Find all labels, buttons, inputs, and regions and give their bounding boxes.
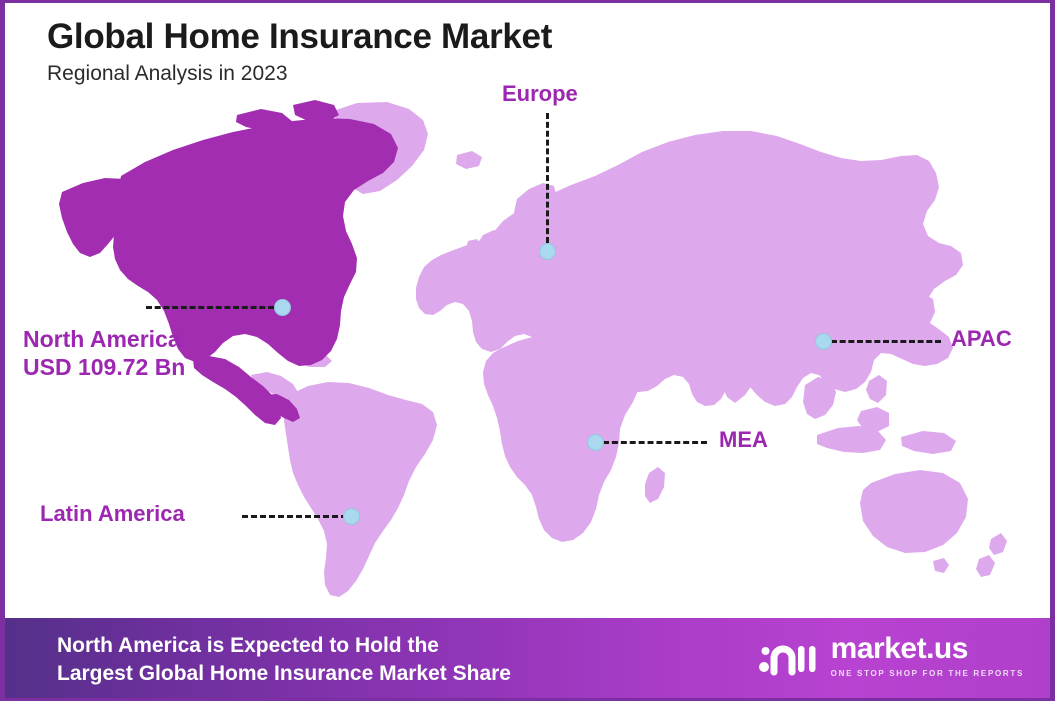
connector-mea bbox=[603, 441, 707, 444]
madagascar-shape bbox=[645, 467, 665, 503]
new-zealand-shape bbox=[989, 533, 1007, 555]
marker-dot-mea[interactable] bbox=[587, 434, 604, 451]
arctic-islands-1 bbox=[236, 109, 293, 131]
header: Global Home Insurance Market Regional An… bbox=[47, 17, 552, 86]
philippines-shape bbox=[866, 375, 887, 403]
connector-latin-america bbox=[242, 515, 347, 518]
logo-name: market.us bbox=[831, 634, 1024, 664]
region-label-latin-america[interactable]: Latin America bbox=[40, 501, 185, 527]
marker-dot-north-america[interactable] bbox=[274, 299, 291, 316]
iceland-shape bbox=[456, 151, 482, 169]
banner-headline: North America is Expected to Hold the La… bbox=[57, 632, 511, 687]
region-label-north-america[interactable]: North America USD 109.72 Bn bbox=[23, 326, 185, 381]
australia-shape bbox=[860, 470, 968, 553]
arctic-islands-2 bbox=[293, 100, 339, 122]
page-subtitle: Regional Analysis in 2023 bbox=[47, 62, 552, 86]
marker-dot-europe[interactable] bbox=[539, 243, 556, 260]
region-label-apac[interactable]: APAC bbox=[951, 326, 1012, 352]
new-zealand-south-shape bbox=[976, 555, 995, 577]
tasmania-shape bbox=[933, 558, 949, 573]
market-us-logo[interactable]: market.us ONE STOP SHOP FOR THE REPORTS bbox=[758, 634, 1024, 678]
bottom-banner: North America is Expected to Hold the La… bbox=[5, 618, 1055, 701]
marker-dot-latin-america[interactable] bbox=[343, 508, 360, 525]
connector-europe bbox=[546, 113, 549, 243]
region-label-mea[interactable]: MEA bbox=[719, 427, 768, 453]
region-name-north-america: North America bbox=[23, 326, 181, 352]
connector-north-america bbox=[146, 306, 274, 309]
marker-dot-apac[interactable] bbox=[815, 333, 832, 350]
infographic-canvas: Global Home Insurance Market Regional An… bbox=[0, 0, 1055, 701]
page-title: Global Home Insurance Market bbox=[47, 17, 552, 56]
new-guinea-shape bbox=[901, 431, 956, 454]
market-us-logo-icon bbox=[758, 634, 820, 678]
southeast-asia-shape bbox=[803, 377, 836, 419]
banner-line-1: North America is Expected to Hold the bbox=[57, 632, 511, 660]
south-america-shape bbox=[284, 382, 437, 597]
region-value-north-america: USD 109.72 Bn bbox=[23, 354, 185, 382]
connector-apac bbox=[831, 340, 941, 343]
africa-shape bbox=[483, 332, 641, 542]
logo-tagline: ONE STOP SHOP FOR THE REPORTS bbox=[831, 669, 1024, 678]
market-us-logo-text: market.us ONE STOP SHOP FOR THE REPORTS bbox=[831, 634, 1024, 678]
banner-line-2: Largest Global Home Insurance Market Sha… bbox=[57, 660, 511, 688]
